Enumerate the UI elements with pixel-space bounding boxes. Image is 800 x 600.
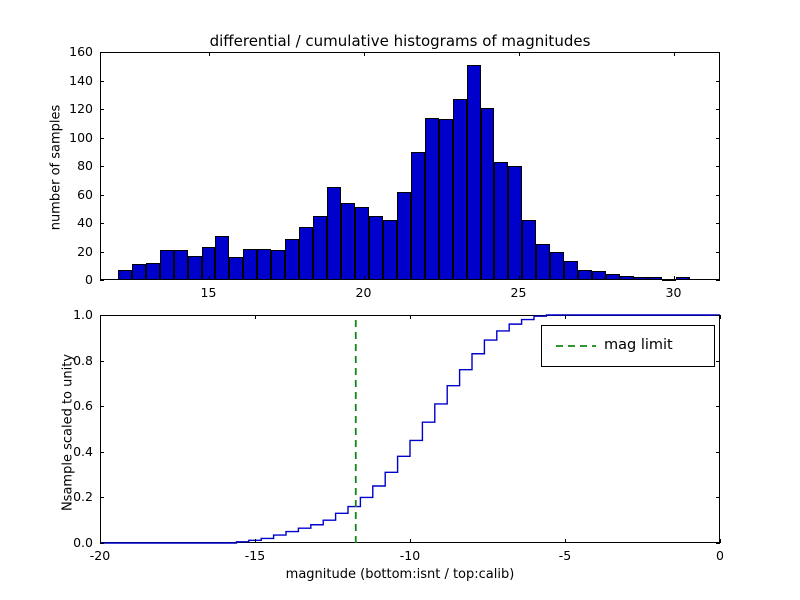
cumulative-curve-svg — [0, 0, 800, 600]
figure: differential / cumulative histograms of … — [0, 0, 800, 600]
legend-label-mag-limit: mag limit — [604, 337, 673, 353]
bottom-x-axis-label: magnitude (bottom:isnt / top:calib) — [0, 567, 800, 582]
